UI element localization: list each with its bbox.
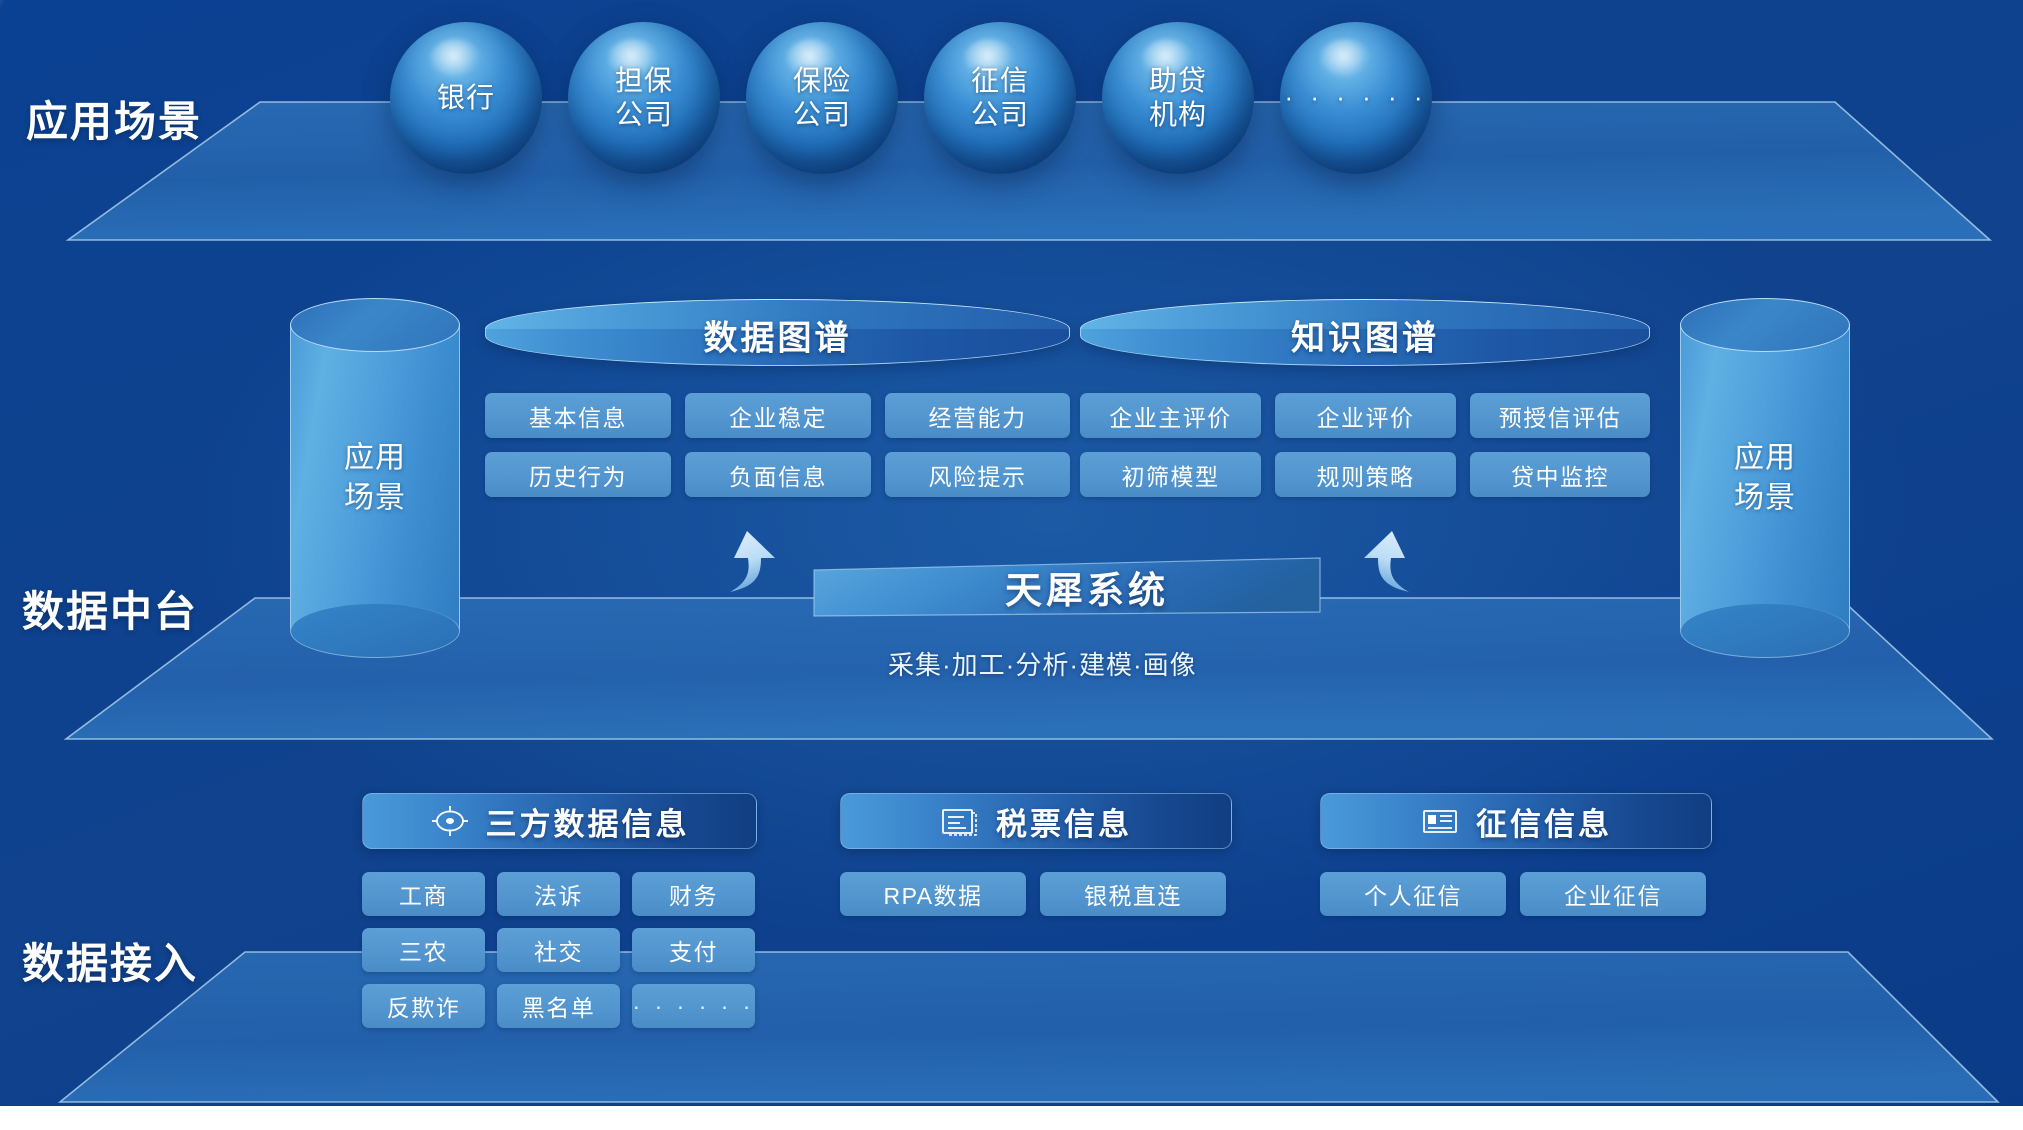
data-graph-tag-grid: 基本信息 企业稳定 经营能力 历史行为 负面信息 风险提示 bbox=[485, 393, 1070, 497]
scenario-label: 保险 公司 bbox=[793, 64, 851, 132]
tag-chip[interactable]: 黑名单 bbox=[497, 984, 620, 1028]
third-party-tag-grid: 工商 法诉 财务 三农 社交 支付 反欺诈 黑名单 · · · · · · bbox=[362, 872, 757, 1028]
layer-title-data-platform: 数据中台 bbox=[22, 578, 198, 639]
cylinder-bottom-ellipse bbox=[290, 604, 460, 658]
section-header-label: 税票信息 bbox=[996, 799, 1132, 844]
scenario-sphere-bank[interactable]: 银行 bbox=[390, 22, 542, 174]
tag-chip[interactable]: 企业评价 bbox=[1275, 393, 1456, 438]
tag-chip[interactable]: 社交 bbox=[497, 928, 620, 972]
cylinder-top-ellipse bbox=[1680, 298, 1850, 352]
tag-chip[interactable]: 经营能力 bbox=[885, 393, 1070, 438]
disc-data-graph[interactable]: 数据图谱 bbox=[485, 300, 1070, 366]
id-card-icon bbox=[1420, 804, 1460, 838]
cylinder-left-application-scenario[interactable]: 应用 场景 bbox=[290, 298, 460, 658]
tag-chip[interactable]: 财务 bbox=[632, 872, 755, 916]
cylinder-top-ellipse bbox=[290, 298, 460, 352]
section-header-tax-invoice[interactable]: 税票信息 bbox=[840, 793, 1232, 849]
scenario-sphere-row: 银行 担保 公司 保险 公司 征信 公司 助贷 机构 · · · · · · bbox=[390, 22, 1458, 174]
cylinder-label: 应用 场景 bbox=[290, 438, 460, 517]
section-header-third-party-data[interactable]: 三方数据信息 bbox=[362, 793, 757, 849]
tag-chip[interactable]: 企业征信 bbox=[1520, 872, 1706, 916]
knowledge-graph-tag-grid: 企业主评价 企业评价 预授信评估 初筛模型 规则策略 贷中监控 bbox=[1080, 393, 1650, 497]
tag-chip[interactable]: 个人征信 bbox=[1320, 872, 1506, 916]
tag-chip[interactable]: 历史行为 bbox=[485, 452, 671, 497]
scenario-label: 银行 bbox=[437, 81, 495, 115]
credit-info-tag-grid: 个人征信 企业征信 bbox=[1320, 872, 1712, 916]
scenario-label: 担保 公司 bbox=[615, 64, 673, 132]
section-header-credit-info[interactable]: 征信信息 bbox=[1320, 793, 1712, 849]
cylinder-bottom-ellipse bbox=[1680, 604, 1850, 658]
crosshair-target-icon bbox=[430, 804, 470, 838]
architecture-diagram: 应用场景 银行 担保 公司 保险 公司 征信 公司 助贷 机构 · · · · … bbox=[0, 0, 2023, 1130]
section-header-label: 征信信息 bbox=[1476, 799, 1612, 844]
tag-chip[interactable]: 企业主评价 bbox=[1080, 393, 1261, 438]
scenario-sphere-guarantee[interactable]: 担保 公司 bbox=[568, 22, 720, 174]
scenario-sphere-more[interactable]: · · · · · · bbox=[1280, 22, 1432, 174]
tag-chip[interactable]: RPA数据 bbox=[840, 872, 1026, 916]
core-system-title: 天犀系统 bbox=[812, 556, 1322, 618]
tag-chip[interactable]: · · · · · · bbox=[632, 984, 755, 1028]
disc-knowledge-graph[interactable]: 知识图谱 bbox=[1080, 300, 1650, 366]
layer-title-application: 应用场景 bbox=[26, 88, 202, 149]
tag-chip[interactable]: 预授信评估 bbox=[1470, 393, 1650, 438]
core-system-banner[interactable]: 天犀系统 bbox=[812, 556, 1322, 618]
scenario-label: 征信 公司 bbox=[971, 64, 1029, 132]
tag-chip[interactable]: 反欺诈 bbox=[362, 984, 485, 1028]
layer-title-data-access: 数据接入 bbox=[22, 930, 198, 991]
tag-chip[interactable]: 企业稳定 bbox=[685, 393, 871, 438]
tax-invoice-tag-grid: RPA数据 银税直连 bbox=[840, 872, 1232, 916]
scenario-sphere-insurance[interactable]: 保险 公司 bbox=[746, 22, 898, 174]
tag-chip[interactable]: 法诉 bbox=[497, 872, 620, 916]
tag-chip[interactable]: 银税直连 bbox=[1040, 872, 1226, 916]
tag-chip[interactable]: 三农 bbox=[362, 928, 485, 972]
scenario-sphere-loan-agency[interactable]: 助贷 机构 bbox=[1102, 22, 1254, 174]
disc-title: 知识图谱 bbox=[1080, 310, 1650, 359]
tag-chip[interactable]: 贷中监控 bbox=[1470, 452, 1650, 497]
tag-chip[interactable]: 基本信息 bbox=[485, 393, 671, 438]
invoice-icon bbox=[940, 804, 980, 838]
tag-chip[interactable]: 支付 bbox=[632, 928, 755, 972]
section-header-label: 三方数据信息 bbox=[486, 799, 690, 844]
scenario-label: 助贷 机构 bbox=[1149, 64, 1207, 132]
scenario-sphere-credit-bureau[interactable]: 征信 公司 bbox=[924, 22, 1076, 174]
tag-chip[interactable]: 负面信息 bbox=[685, 452, 871, 497]
curved-arrow-up-right-icon bbox=[1345, 528, 1427, 608]
data-access-platform-slab bbox=[0, 950, 2023, 1110]
cylinder-label: 应用 场景 bbox=[1680, 438, 1850, 517]
core-system-subtitle: 采集·加工·分析·建模·画像 bbox=[888, 645, 1197, 682]
tag-chip[interactable]: 规则策略 bbox=[1275, 452, 1456, 497]
disc-title: 数据图谱 bbox=[485, 310, 1070, 359]
tag-chip[interactable]: 初筛模型 bbox=[1080, 452, 1261, 497]
cylinder-right-application-scenario[interactable]: 应用 场景 bbox=[1680, 298, 1850, 658]
tag-chip[interactable]: 工商 bbox=[362, 872, 485, 916]
tag-chip[interactable]: 风险提示 bbox=[885, 452, 1070, 497]
scenario-label: · · · · · · bbox=[1284, 82, 1427, 114]
curved-arrow-up-left-icon bbox=[712, 528, 794, 608]
bottom-white-strip bbox=[0, 1106, 2023, 1130]
